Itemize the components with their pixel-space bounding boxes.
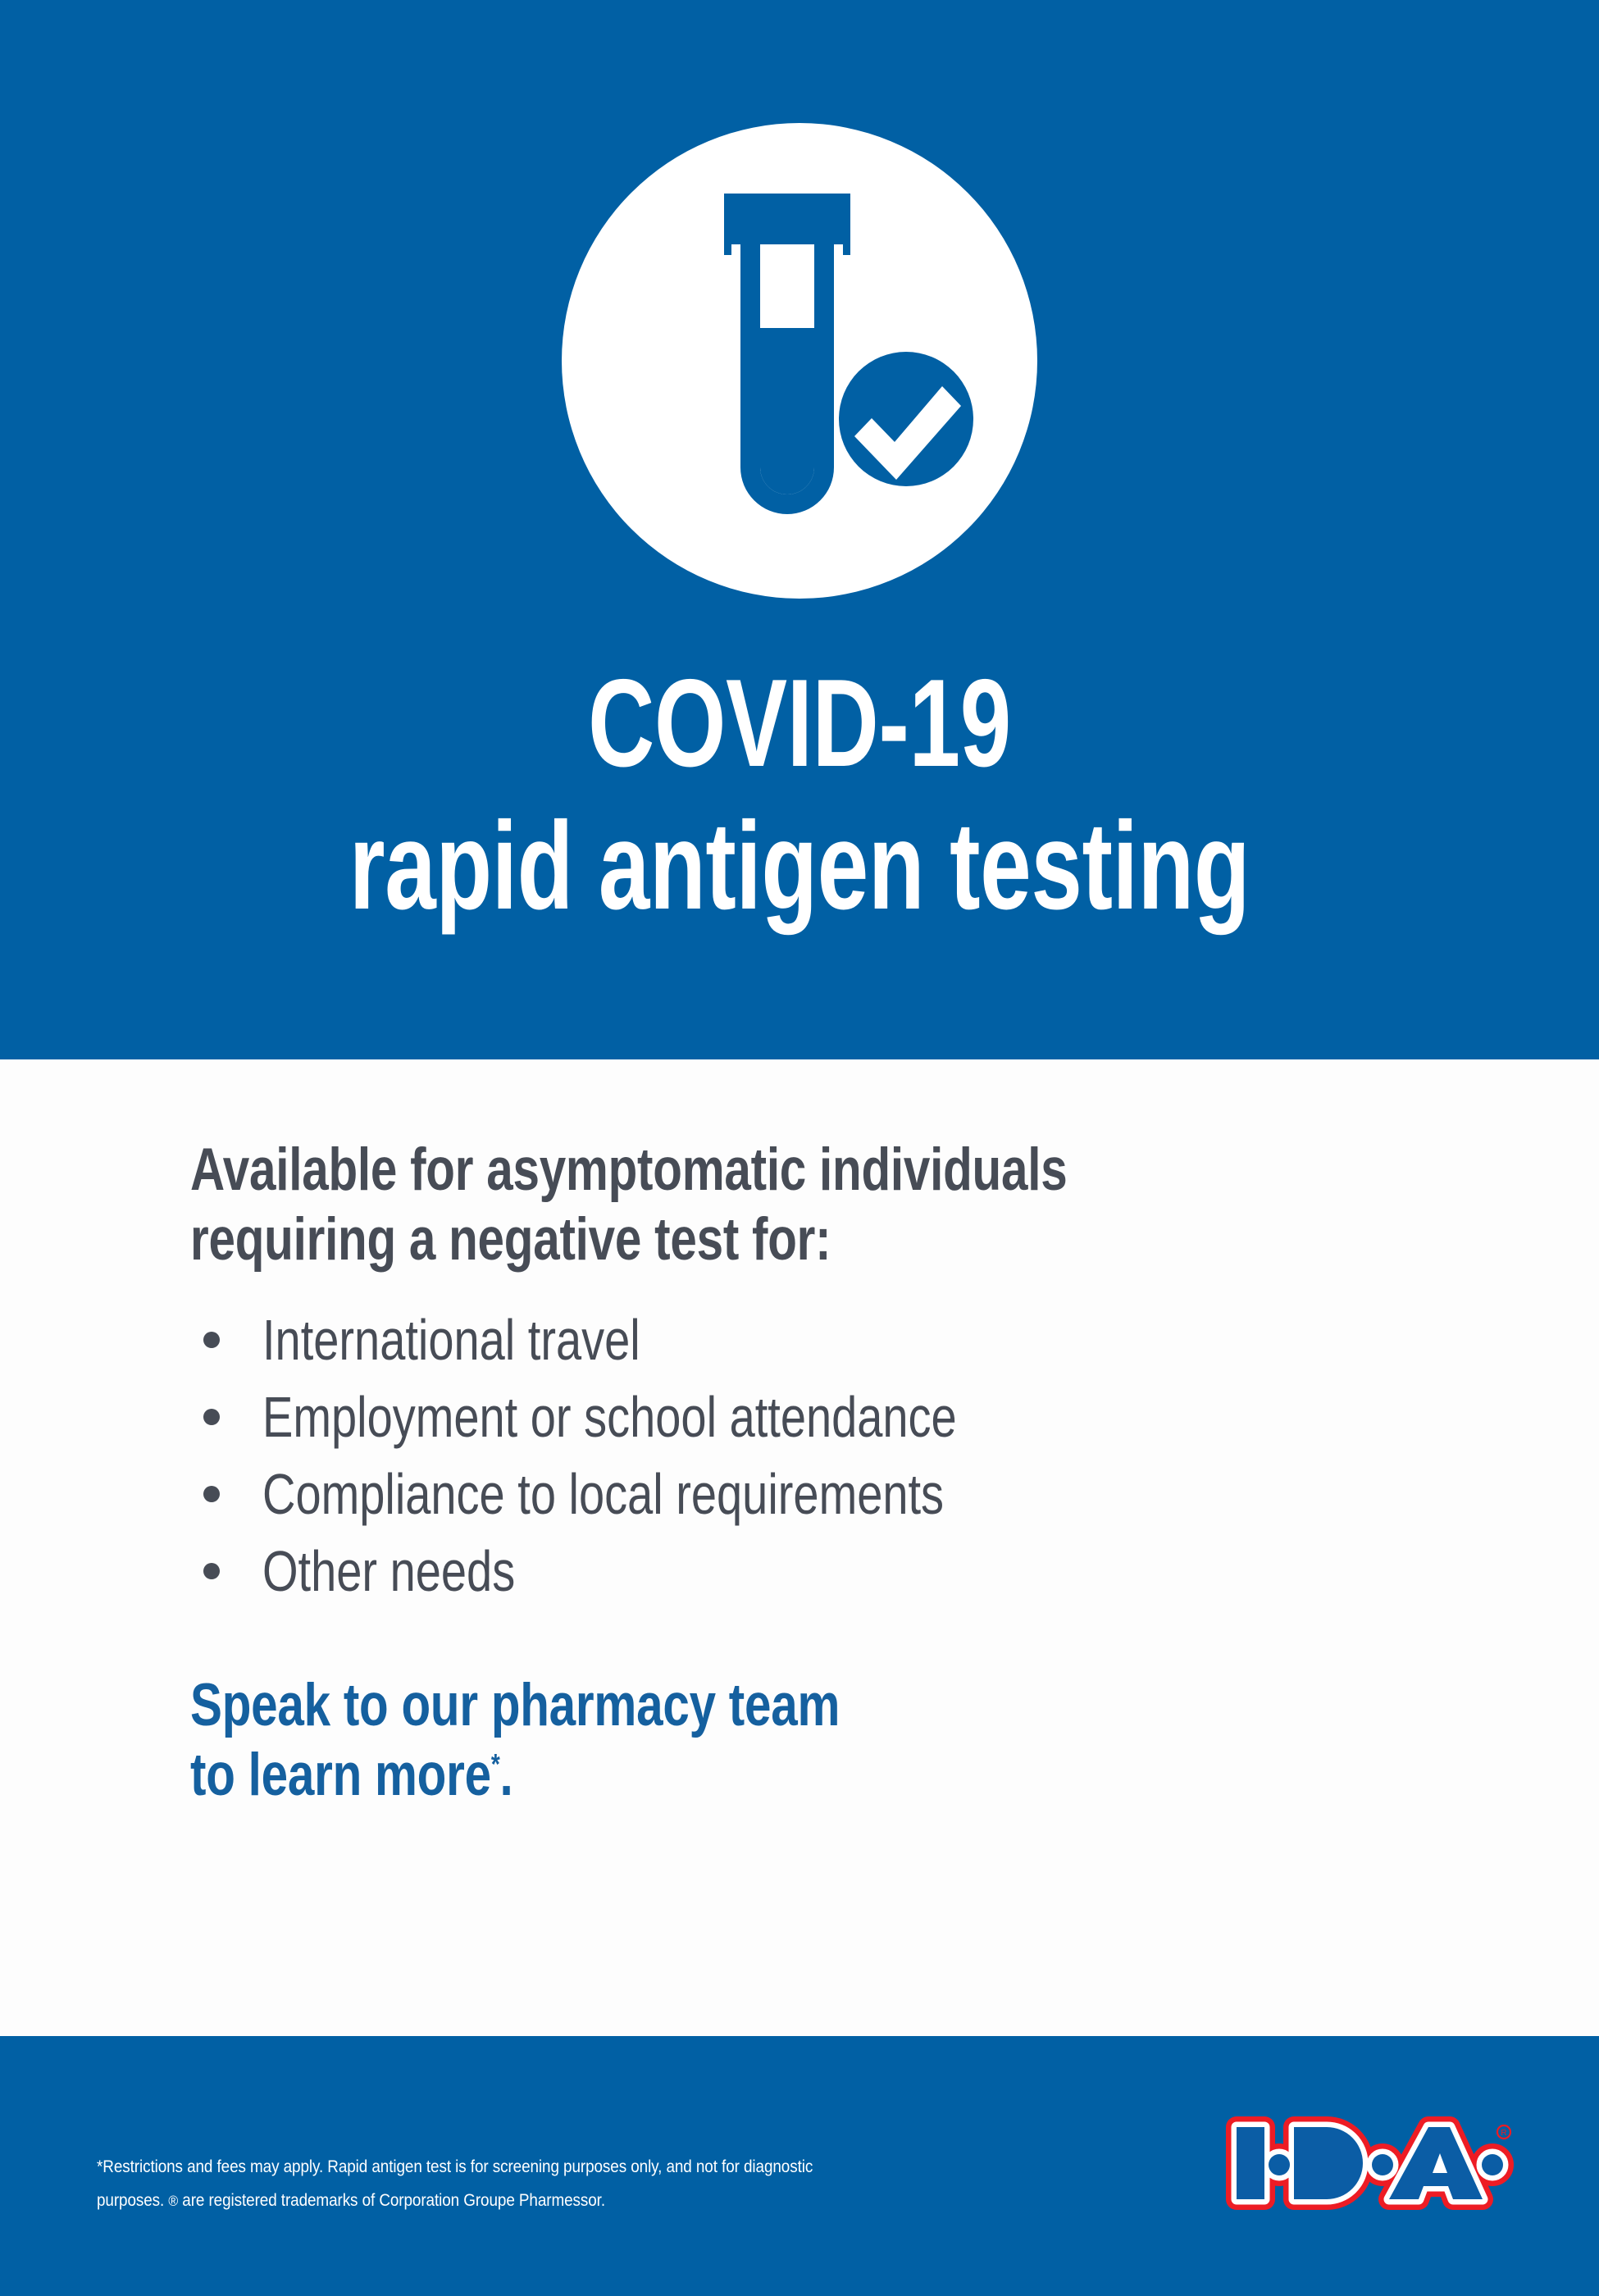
footer-band: *Restrictions and fees may apply. Rapid …: [0, 2036, 1599, 2296]
svg-text:R: R: [1501, 2129, 1506, 2138]
disclaimer-line-2-b: are registered trademarks of Corporation…: [178, 2191, 605, 2210]
covid-testing-poster: COVID-19 rapid antigen testing Available…: [0, 0, 1599, 2296]
bullet-dot-icon: [203, 1332, 220, 1348]
list-item-label: Compliance to local requirements: [262, 1465, 944, 1523]
bullet-dot-icon: [203, 1486, 220, 1502]
disclaimer-line-2-a: purposes.: [97, 2191, 168, 2210]
body-band: Available for asymptomatic individuals r…: [0, 1059, 1599, 2036]
logo-registered-mark: R: [1497, 2125, 1510, 2139]
disclaimer-line-1: *Restrictions and fees may apply. Rapid …: [97, 2151, 879, 2184]
title-line-1: COVID-19: [208, 656, 1392, 790]
title-line-2: rapid antigen testing: [208, 799, 1392, 933]
header-band: COVID-19 rapid antigen testing: [0, 0, 1599, 1059]
ida-pharmacy-logo: R: [1222, 2114, 1517, 2221]
test-tube-check-icon: [562, 123, 1037, 599]
disclaimer-line-2: purposes. ® are registered trademarks of…: [97, 2184, 879, 2218]
list-item: International travel: [190, 1311, 1502, 1369]
cta-footnote-marker: *: [491, 1749, 500, 1781]
list-item-label: Other needs: [262, 1542, 515, 1600]
body-content: Available for asymptomatic individuals r…: [190, 1135, 1502, 1811]
disclaimer-text: *Restrictions and fees may apply. Rapid …: [97, 2151, 879, 2218]
call-to-action: Speak to our pharmacy team to learn more…: [190, 1670, 1502, 1811]
list-item: Employment or school attendance: [190, 1388, 1502, 1446]
lede-line-2: requiring a negative test for:: [190, 1205, 1502, 1274]
cta-line-2: to learn more*.: [190, 1740, 1240, 1810]
lede-line-1: Available for asymptomatic individuals: [190, 1135, 1502, 1205]
cta-line-2-text: to learn more: [190, 1742, 491, 1808]
bullet-dot-icon: [203, 1409, 220, 1425]
poster-title: COVID-19 rapid antigen testing: [0, 656, 1599, 933]
bullet-dot-icon: [203, 1563, 220, 1579]
list-item-label: International travel: [262, 1311, 640, 1369]
list-item: Other needs: [190, 1542, 1502, 1600]
eligibility-list: International travel Employment or schoo…: [190, 1311, 1502, 1600]
list-item-label: Employment or school attendance: [262, 1388, 957, 1446]
registered-mark-icon: ®: [168, 2193, 178, 2209]
cta-line-2-end: .: [500, 1742, 513, 1808]
lede-heading: Available for asymptomatic individuals r…: [190, 1135, 1502, 1275]
cta-line-1: Speak to our pharmacy team: [190, 1670, 1240, 1740]
list-item: Compliance to local requirements: [190, 1465, 1502, 1523]
